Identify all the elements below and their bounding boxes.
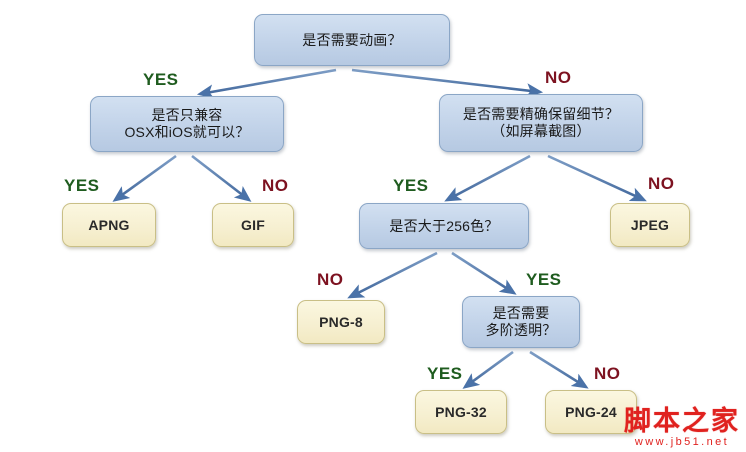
edge-detail-no bbox=[548, 156, 644, 200]
edge-label-colors256-yes: YES bbox=[526, 270, 562, 290]
decision-node-colors256[interactable]: 是否大于256色？ bbox=[359, 203, 529, 249]
edge-label-root-yes: YES bbox=[143, 70, 179, 90]
node-label: JPEG bbox=[625, 217, 675, 234]
edge-label-detail-no: NO bbox=[648, 174, 675, 194]
diagram-canvas: 是否需要动画？是否只兼容 OSX和iOS就可以？是否需要精确保留细节？ （如屏幕… bbox=[0, 0, 746, 452]
leaf-node-gif[interactable]: GIF bbox=[212, 203, 294, 247]
edge-label-alpha-yes: YES bbox=[427, 364, 463, 384]
edge-alpha-yes bbox=[465, 352, 513, 387]
edge-label-osx-no: NO bbox=[262, 176, 289, 196]
node-label: 是否只兼容 OSX和iOS就可以？ bbox=[118, 107, 255, 140]
node-label: 是否需要精确保留细节？ （如屏幕截图） bbox=[457, 106, 625, 139]
edge-osx-yes bbox=[115, 156, 176, 200]
edge-label-colors256-no: NO bbox=[317, 270, 344, 290]
edge-alpha-no bbox=[530, 352, 586, 387]
edge-label-alpha-no: NO bbox=[594, 364, 621, 384]
node-label: 是否需要动画？ bbox=[296, 32, 407, 49]
leaf-node-jpeg[interactable]: JPEG bbox=[610, 203, 690, 247]
leaf-node-apng[interactable]: APNG bbox=[62, 203, 156, 247]
watermark: 脚本之家 www.jb51.net bbox=[624, 408, 740, 448]
decision-node-osx_ios[interactable]: 是否只兼容 OSX和iOS就可以？ bbox=[90, 96, 284, 152]
edge-label-osx-yes: YES bbox=[64, 176, 100, 196]
decision-node-root[interactable]: 是否需要动画？ bbox=[254, 14, 450, 66]
leaf-node-png8[interactable]: PNG-8 bbox=[297, 300, 385, 344]
leaf-node-png32[interactable]: PNG-32 bbox=[415, 390, 507, 434]
edge-osx-no bbox=[192, 156, 249, 200]
decision-node-alpha[interactable]: 是否需要 多阶透明？ bbox=[462, 296, 580, 348]
node-label: APNG bbox=[82, 217, 135, 234]
watermark-url: www.jb51.net bbox=[624, 437, 740, 448]
edge-colors256-no bbox=[350, 253, 437, 297]
edge-label-root-no: NO bbox=[545, 68, 572, 88]
edge-detail-yes bbox=[447, 156, 530, 200]
decision-node-keep_detail[interactable]: 是否需要精确保留细节？ （如屏幕截图） bbox=[439, 94, 643, 152]
node-label: PNG-24 bbox=[559, 404, 623, 421]
edge-root-yes bbox=[200, 70, 336, 94]
node-label: 是否需要 多阶透明？ bbox=[480, 305, 563, 338]
node-label: 是否大于256色？ bbox=[383, 218, 504, 235]
watermark-name: 脚本之家 bbox=[624, 408, 740, 435]
edge-colors256-yes bbox=[452, 253, 514, 293]
edge-root-no bbox=[352, 70, 540, 92]
node-label: PNG-32 bbox=[429, 404, 493, 421]
edge-label-detail-yes: YES bbox=[393, 176, 429, 196]
node-label: PNG-8 bbox=[313, 314, 369, 331]
node-label: GIF bbox=[235, 217, 271, 234]
